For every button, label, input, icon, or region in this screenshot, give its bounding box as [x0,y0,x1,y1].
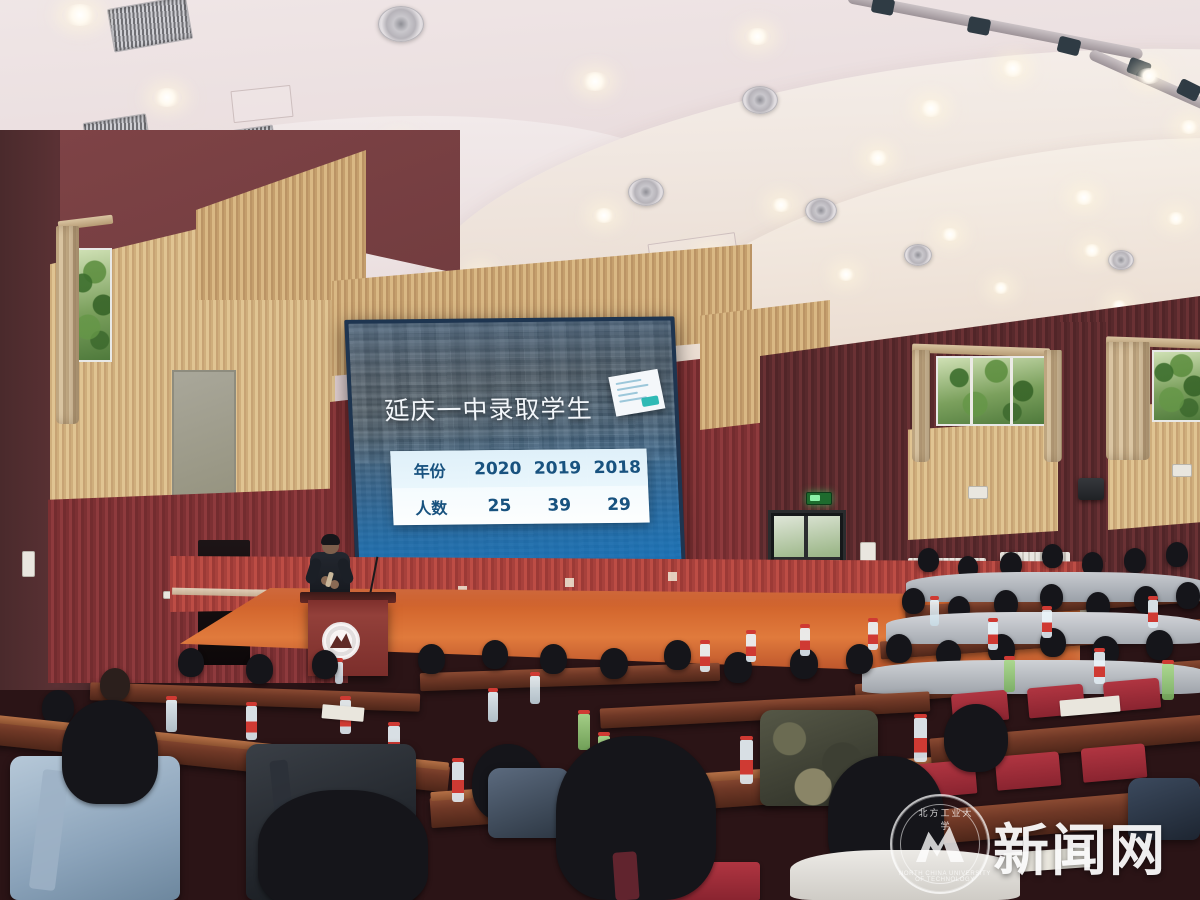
audience-head [1042,544,1063,568]
water-bottle [1042,610,1052,638]
water-bottle [746,634,756,662]
window-mullion [970,358,973,424]
student-head-foreground [944,704,1008,772]
ceiling-downlight [1072,190,1096,205]
audience-head [1166,542,1188,567]
water-bottle [530,676,540,704]
curtain-right-b [1106,342,1150,460]
row-label: 年份 [390,450,469,488]
audience-head [1176,582,1200,609]
air-diffuser [742,86,778,114]
notebook [321,704,364,722]
student-shoulders [790,850,1020,900]
ceiling-downlight [62,4,98,26]
table-cell: 39 [529,486,590,524]
air-diffuser [805,198,837,223]
ceiling-downlight [592,208,616,223]
wall-plate [22,551,35,577]
door-rail [774,557,840,560]
student-head-foreground [258,790,428,900]
water-bottle [1004,660,1015,692]
water-bottle [700,644,710,672]
audience-head [902,588,925,614]
curtain-left [56,226,79,424]
audience-head [600,648,628,679]
audience-head [886,634,912,663]
curtain-right-a-left [912,350,930,462]
audience-head [246,654,273,684]
audience-head [664,640,691,670]
audience-head [178,648,204,677]
water-bottle [868,622,878,650]
auditorium-photo: 延庆一中录取学生 年份 2020 2019 2018 [0,0,1200,900]
exit-sign [806,492,832,505]
ceiling-downlight [1000,60,1026,77]
audience-head [540,644,567,674]
slide-data-table: 年份 2020 2019 2018 人数 25 39 29 [390,449,649,526]
water-bottle [800,628,810,656]
window-right-a [936,356,1046,426]
table-cell: 2018 [587,449,648,487]
water-bottle [488,692,498,722]
student-head-foreground [62,700,158,804]
window-left [74,248,112,362]
air-diffuser [378,6,424,42]
water-bottle [1148,600,1158,628]
backpack [1128,778,1200,840]
stage-vent [668,572,677,581]
table-cell: 2019 [527,449,588,487]
backpack-strap [612,851,639,900]
water-bottle [988,622,998,650]
ceiling-downlight [1136,68,1162,84]
ceiling-access-hatch [230,85,293,123]
water-bottle [166,700,177,732]
window-foliage [76,250,110,360]
slide-title: 延庆一中录取学生 [384,389,594,427]
ceiling-downlight [580,72,610,91]
ceiling-downlight [152,88,182,107]
window-foliage [938,358,1044,424]
ceiling-downlight [918,100,944,117]
screen-surface: 延庆一中录取学生 年份 2020 2019 2018 [348,320,681,565]
table-row: 人数 25 39 29 [392,486,650,526]
right-wall-pier [1058,322,1106,562]
wall-sign-right-a [968,486,988,499]
handwritten-note-photo [608,369,665,417]
ceiling-downlight [866,150,890,166]
ceiling-downlight [770,198,792,212]
presenter-hair [321,534,340,545]
table-cell: 2020 [467,450,528,488]
seat-back [1081,743,1148,782]
water-bottle [914,718,927,762]
audience-head [1146,630,1173,660]
curtain-right-a-right [1044,350,1062,462]
air-diffuser [1108,250,1134,270]
ceiling-downlight [836,268,856,281]
audience-head [918,548,939,572]
wall-speaker-right [1078,478,1104,500]
table-cell: 25 [469,487,530,525]
air-diffuser [628,178,664,206]
wall-sign-right-b [1172,464,1192,477]
window-foliage [1154,352,1200,420]
row-label: 人数 [392,487,471,525]
air-diffuser [904,244,932,266]
acoustic-grey-panel [172,370,236,504]
water-bottle [246,706,257,740]
window-mullion [1010,358,1013,424]
water-bottle [1094,652,1105,684]
ceiling-downlight [744,28,771,45]
ceiling-downlight [992,282,1010,294]
table-row: 年份 2020 2019 2018 [390,449,648,489]
teal-mark [641,395,659,407]
audience-head [1124,548,1146,573]
screen-frame: 延庆一中录取学生 年份 2020 2019 2018 [344,316,686,569]
water-bottle [1162,664,1174,700]
audience-head [482,640,508,669]
water-bottle [930,600,939,626]
audience-head [312,650,338,679]
door-notice [860,542,876,562]
water-bottle [740,740,753,784]
audience-head [100,668,130,701]
ceiling-downlight [940,228,960,241]
ceiling-downlight [1178,120,1200,134]
projection-screen[interactable]: 延庆一中录取学生 年份 2020 2019 2018 [344,316,686,569]
water-bottle [578,714,590,750]
stage-vent [565,578,574,587]
ceiling-downlight [1166,212,1186,225]
audience-head [418,644,445,674]
seat-back [995,751,1062,790]
presenter [308,536,352,600]
ceiling-downlight [1082,244,1102,257]
water-bottle [452,762,464,802]
table-cell: 29 [588,486,649,524]
window-right-b [1152,350,1200,422]
